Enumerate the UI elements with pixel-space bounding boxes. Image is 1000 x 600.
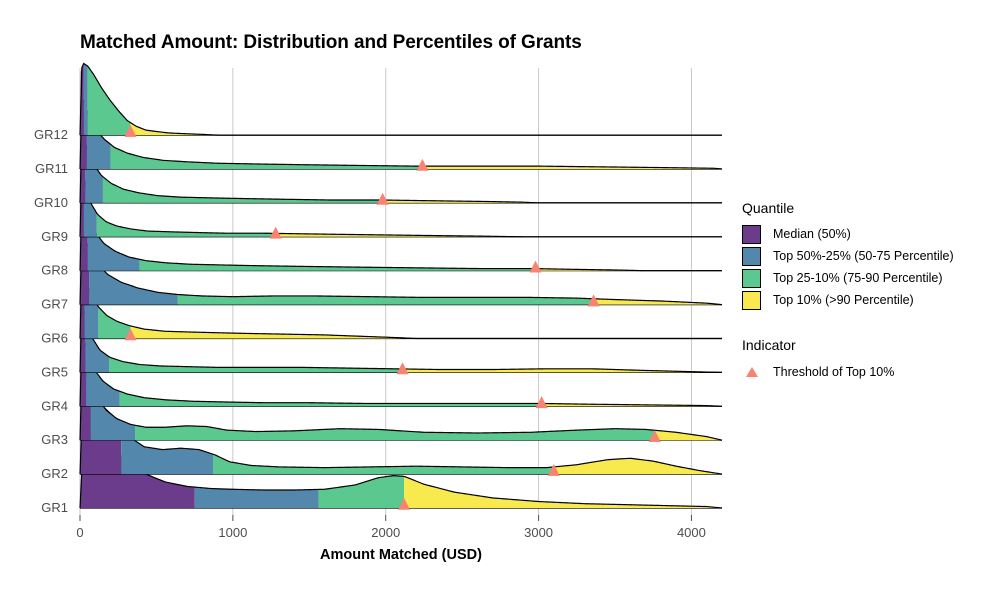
y-tick-label-GR2: GR2 bbox=[41, 466, 68, 481]
quantile-band-top25_10 bbox=[213, 454, 554, 474]
legend-title-quantile: Quantile bbox=[742, 200, 992, 216]
legend-label-top10: Top 10% (>90 Percentile) bbox=[773, 293, 914, 307]
legend-swatch-top50_25 bbox=[742, 247, 761, 266]
density-outline bbox=[80, 64, 722, 136]
legend-label-top25_10: Top 25-10% (75-90 Percentile) bbox=[773, 271, 943, 285]
threshold-marker-GR11[interactable] bbox=[417, 160, 428, 171]
x-tick-label: 0 bbox=[76, 525, 83, 540]
y-tick-label-GR4: GR4 bbox=[41, 398, 68, 413]
legend-indicator-group: Indicator Threshold of Top 10% bbox=[742, 337, 992, 384]
legend-swatch-median bbox=[742, 225, 761, 244]
y-tick-label-GR8: GR8 bbox=[41, 263, 68, 278]
legend-title-indicator: Indicator bbox=[742, 337, 992, 353]
quantile-band-top25_10 bbox=[120, 391, 542, 406]
legend-label-threshold: Threshold of Top 10% bbox=[773, 365, 894, 379]
legend-item-median[interactable]: Median (50%) bbox=[742, 223, 992, 245]
y-tick-label-GR12: GR12 bbox=[34, 127, 68, 142]
legend-swatch-top25_10 bbox=[742, 269, 761, 288]
legend-swatch-top10 bbox=[742, 291, 761, 310]
legend-indicator-items: Threshold of Top 10% bbox=[742, 360, 992, 384]
quantile-band-top25_10 bbox=[318, 476, 404, 508]
threshold-marker-GR10[interactable] bbox=[377, 193, 388, 204]
quantile-band-top10 bbox=[554, 458, 722, 474]
y-tick-label-GR7: GR7 bbox=[41, 297, 68, 312]
y-tick-label-GR1: GR1 bbox=[41, 500, 68, 515]
quantile-band-top25_10 bbox=[109, 357, 402, 373]
ridge-row-GR12 bbox=[80, 63, 722, 137]
quantile-band-top10 bbox=[130, 123, 722, 135]
x-tick-label: 2000 bbox=[371, 525, 400, 540]
x-tick-label: 4000 bbox=[677, 525, 706, 540]
x-tick-label: 1000 bbox=[218, 525, 247, 540]
triangle-marker-icon bbox=[742, 363, 761, 382]
legend-label-median: Median (50%) bbox=[773, 227, 851, 241]
y-tick-label-GR5: GR5 bbox=[41, 364, 68, 379]
y-tick-label-GR11: GR11 bbox=[35, 161, 68, 176]
y-tick-label-GR10: GR10 bbox=[34, 195, 68, 210]
threshold-marker-GR8[interactable] bbox=[530, 261, 541, 272]
y-tick-label-GR9: GR9 bbox=[41, 229, 68, 244]
threshold-marker-GR4[interactable] bbox=[536, 397, 547, 408]
legend: Quantile Median (50%)Top 50%-25% (50-75 … bbox=[742, 200, 992, 384]
x-axis: 01000200030004000 bbox=[76, 515, 706, 540]
legend-item-top50_25[interactable]: Top 50%-25% (50-75 Percentile) bbox=[742, 245, 992, 267]
chart-page: Matched Amount: Distribution and Percent… bbox=[0, 0, 1000, 600]
legend-item-threshold[interactable]: Threshold of Top 10% bbox=[742, 360, 992, 384]
quantile-band-top50_25 bbox=[84, 64, 88, 136]
legend-quantile-items: Median (50%)Top 50%-25% (50-75 Percentil… bbox=[742, 223, 992, 311]
x-tick-label: 3000 bbox=[524, 525, 553, 540]
legend-item-top10[interactable]: Top 10% (>90 Percentile) bbox=[742, 289, 992, 311]
legend-item-top25_10[interactable]: Top 25-10% (75-90 Percentile) bbox=[742, 267, 992, 289]
legend-label-top50_25: Top 50%-25% (50-75 Percentile) bbox=[773, 249, 954, 263]
x-axis-label: Amount Matched (USD) bbox=[320, 547, 482, 563]
y-tick-label-GR6: GR6 bbox=[41, 331, 68, 346]
y-tick-label-GR3: GR3 bbox=[41, 432, 68, 447]
